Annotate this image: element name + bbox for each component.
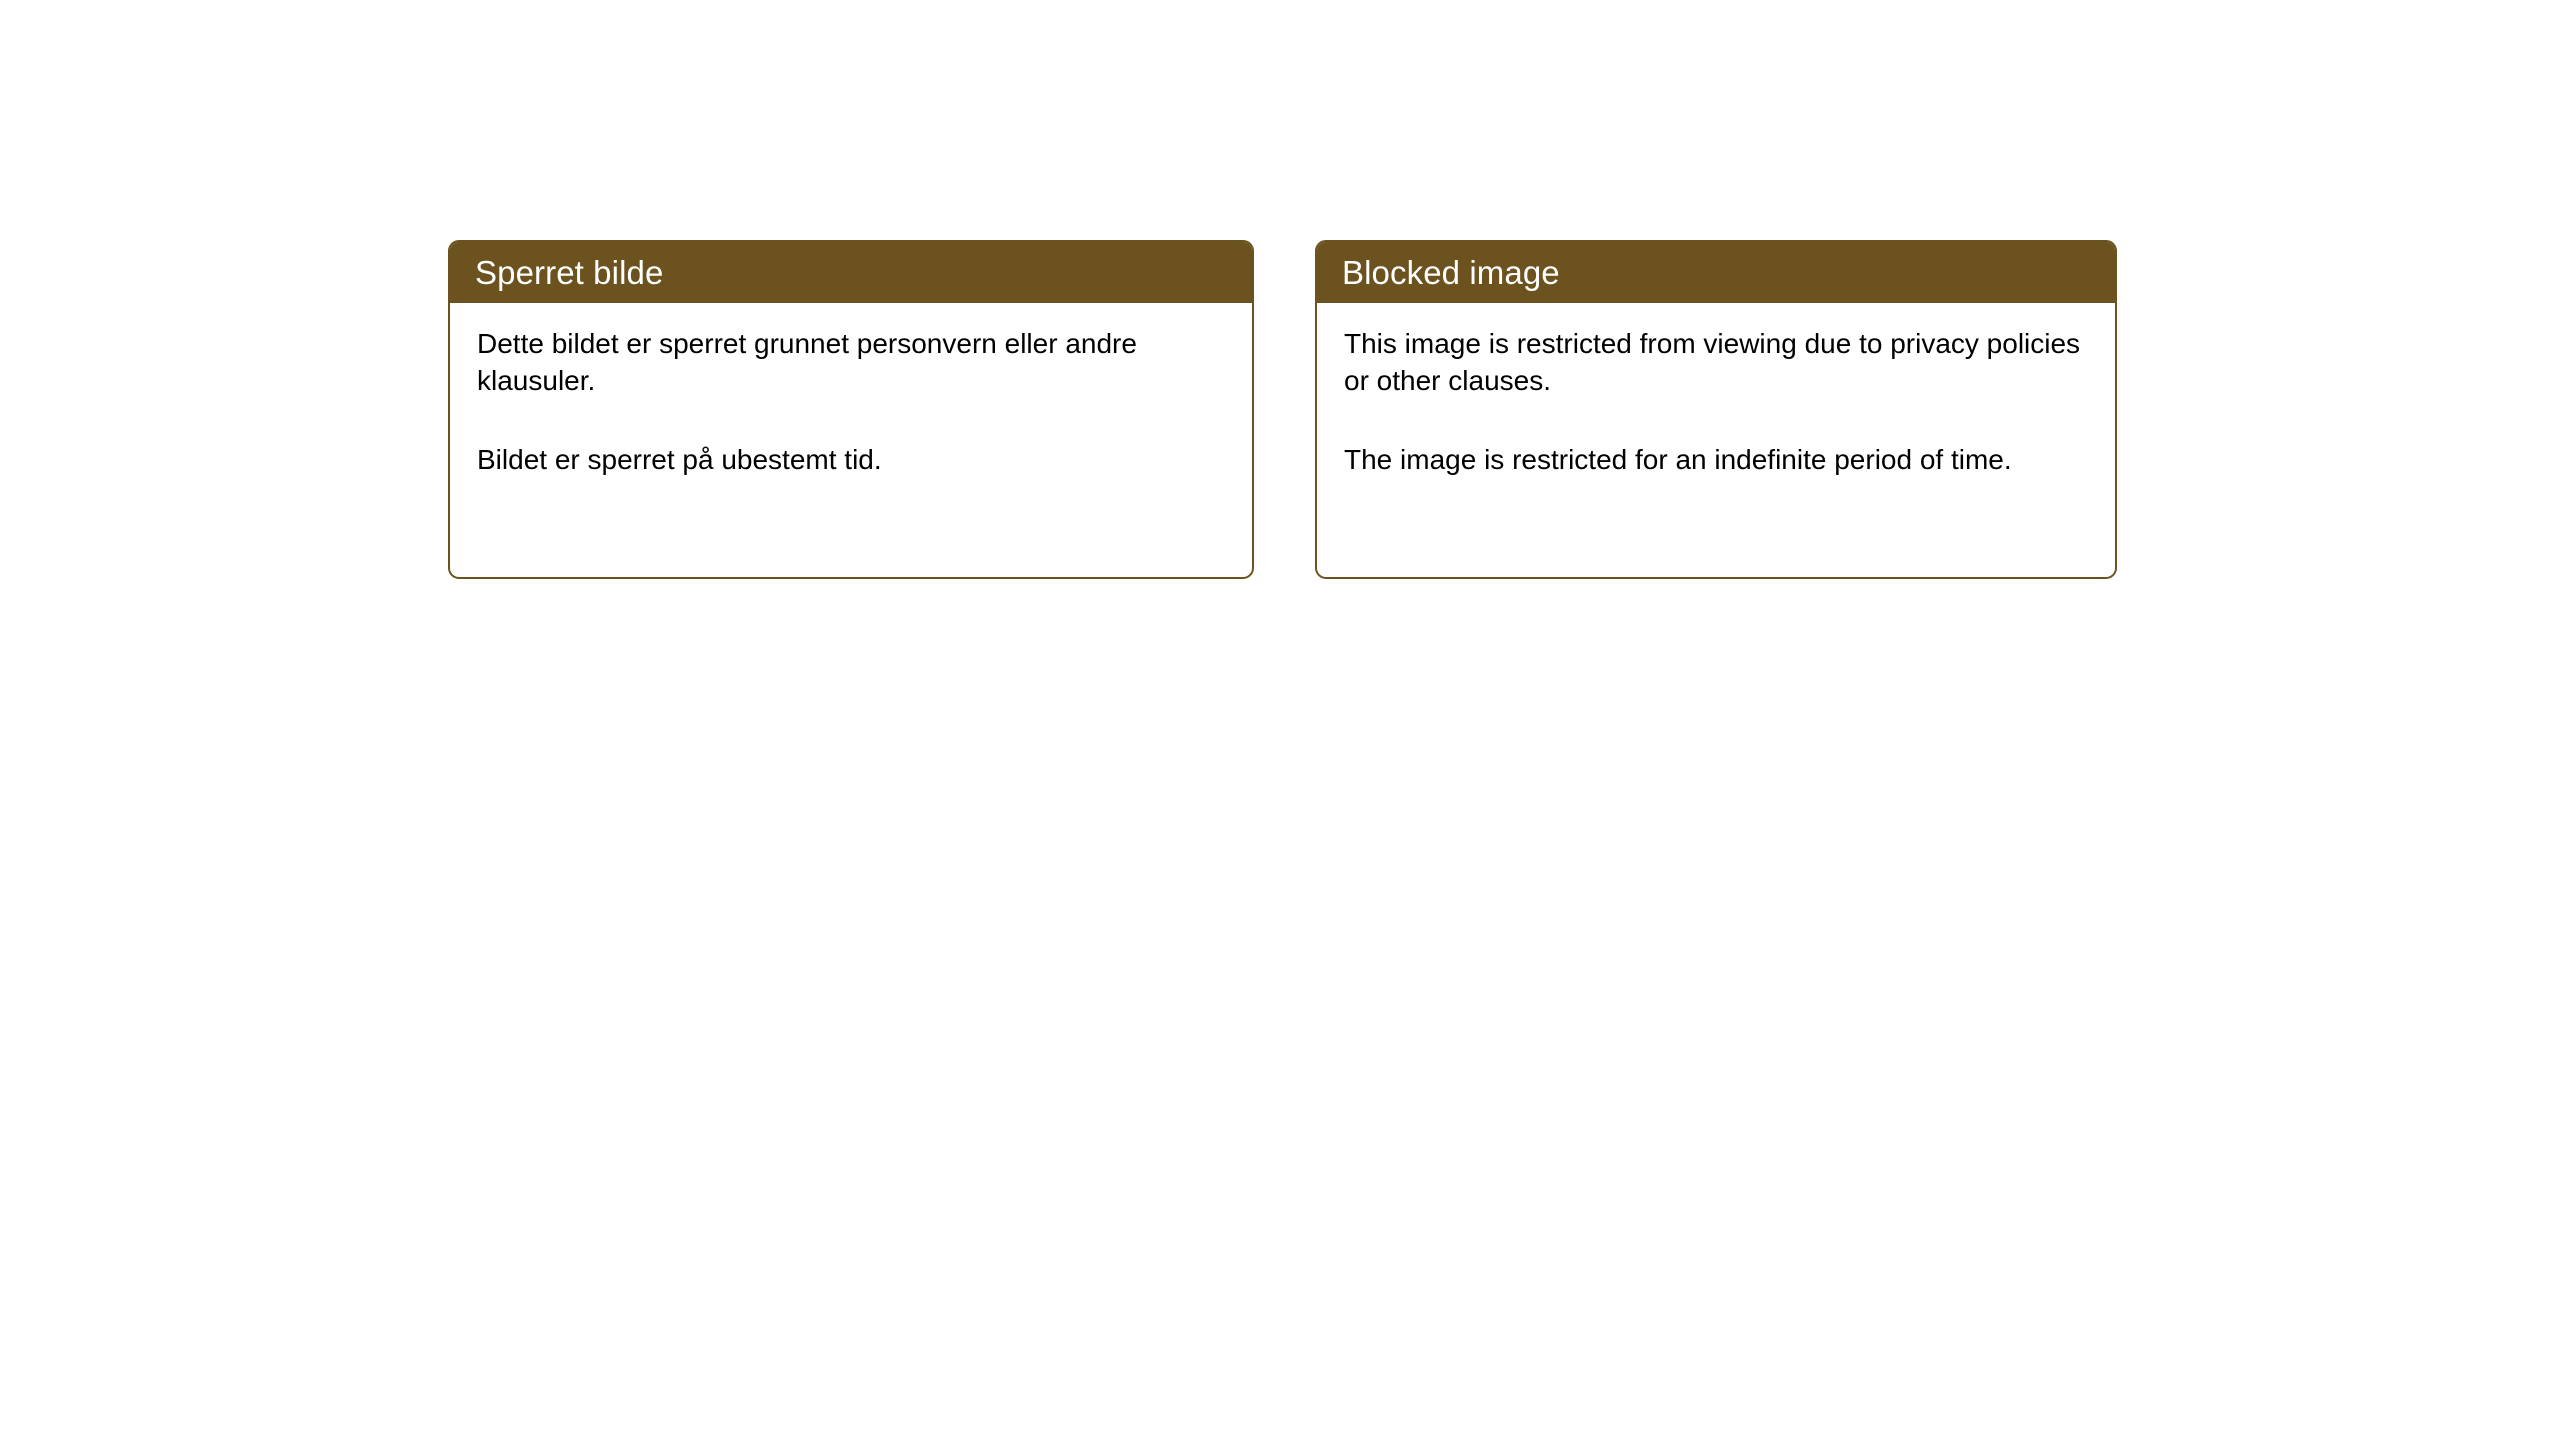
card-paragraph-reason-norwegian: Dette bildet er sperret grunnet personve… <box>477 325 1228 399</box>
blocked-image-notice-group: Sperret bilde Dette bildet er sperret gr… <box>448 240 2117 579</box>
card-body-norwegian: Dette bildet er sperret grunnet personve… <box>450 303 1252 577</box>
blocked-image-card-norwegian: Sperret bilde Dette bildet er sperret gr… <box>448 240 1254 579</box>
card-title-english: Blocked image <box>1342 256 1560 289</box>
card-title-norwegian: Sperret bilde <box>475 256 663 289</box>
card-body-english: This image is restricted from viewing du… <box>1317 303 2115 577</box>
blocked-image-card-english: Blocked image This image is restricted f… <box>1315 240 2117 579</box>
card-header-english: Blocked image <box>1317 242 2115 303</box>
card-paragraph-duration-norwegian: Bildet er sperret på ubestemt tid. <box>477 441 1228 478</box>
card-header-norwegian: Sperret bilde <box>450 242 1252 303</box>
card-paragraph-reason-english: This image is restricted from viewing du… <box>1344 325 2091 399</box>
card-paragraph-duration-english: The image is restricted for an indefinit… <box>1344 441 2091 478</box>
